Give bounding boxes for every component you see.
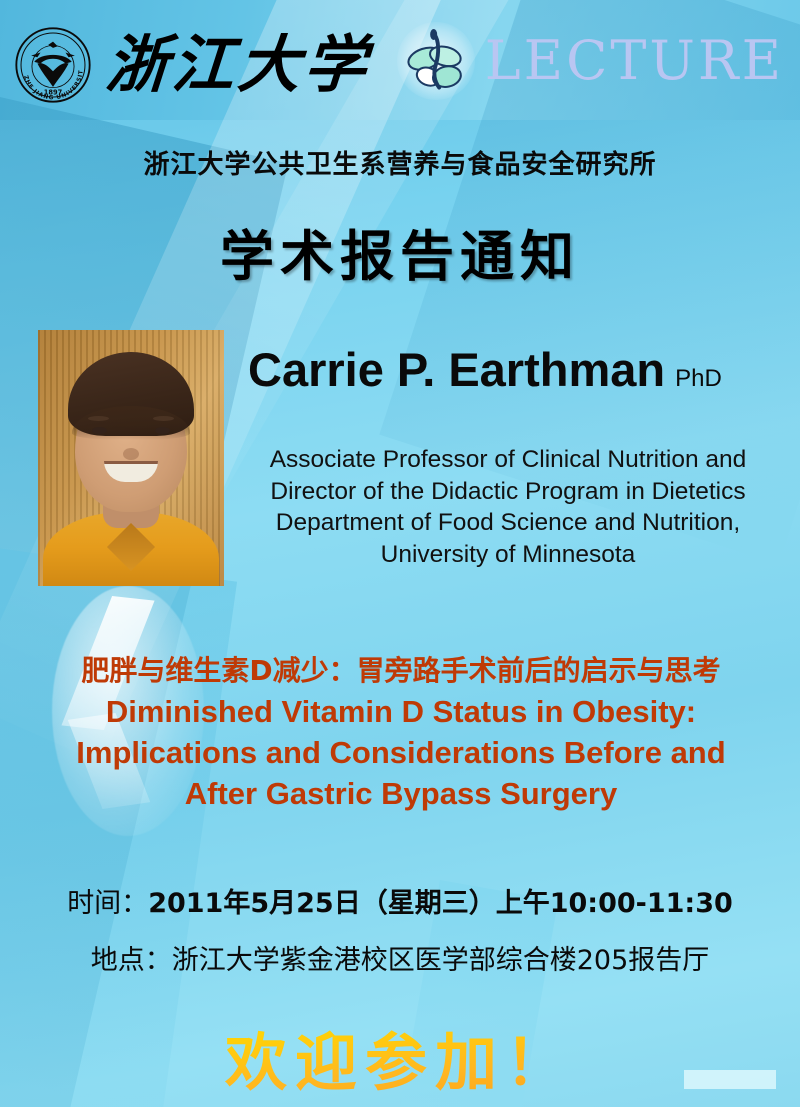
welcome-message: 欢迎参加！ <box>0 1012 800 1102</box>
lecture-title: 肥胖与维生素D减少：胃旁路手术前后的启示与思考 Diminished Vitam… <box>18 652 784 815</box>
poster-headline: 学术报告通知 <box>0 212 800 291</box>
lecture-poster: 1897 ZHE JIANG UNIVERSITY 浙江大学 LECTURE <box>0 0 800 1107</box>
zju-seal-icon: 1897 ZHE JIANG UNIVERSITY <box>14 26 92 104</box>
institute-name: 浙江大学公共卫生系营养与食品安全研究所 <box>0 144 800 181</box>
lecture-butterfly-icon <box>397 22 475 100</box>
speaker-degree: PhD <box>675 365 722 392</box>
lecture-title-english-line: Implications and Considerations Before a… <box>18 733 784 774</box>
subject-brow-left <box>88 416 109 421</box>
subject-brow-right <box>153 416 174 421</box>
event-details: 时间：2011年5月25日（星期三）上午10:00-11:30 地点：浙江大学紫… <box>0 876 800 989</box>
lecture-branding: LECTURE <box>397 22 784 100</box>
affiliation-line: Department of Food Science and Nutrition… <box>228 507 788 539</box>
event-place-value: 浙江大学紫金港校区医学部综合楼205报告厅 <box>172 945 710 976</box>
zju-logo: 1897 ZHE JIANG UNIVERSITY 浙江大学 <box>14 26 370 104</box>
subject-eye-left <box>92 427 107 434</box>
lecture-label: LECTURE <box>485 34 784 88</box>
speaker-name-text: Carrie P. Earthman <box>248 343 665 396</box>
lecture-title-english-line: Diminished Vitamin D Status in Obesity: <box>18 692 784 733</box>
bottom-right-artifact <box>684 1070 776 1089</box>
speaker-affiliation: Associate Professor of Clinical Nutritio… <box>228 444 788 570</box>
university-wordmark: 浙江大学 <box>104 34 372 96</box>
subject-nose <box>123 448 139 460</box>
event-time-label: 时间： <box>67 888 148 919</box>
event-time-line: 时间：2011年5月25日（星期三）上午10:00-11:30 <box>0 876 800 933</box>
lecture-title-chinese: 肥胖与维生素D减少：胃旁路手术前后的启示与思考 <box>18 652 784 690</box>
affiliation-line: Director of the Didactic Program in Diet… <box>228 476 788 508</box>
event-place-label: 地点： <box>91 945 172 976</box>
speaker-name: Carrie P. EarthmanPhD <box>248 342 788 397</box>
affiliation-line: University of Minnesota <box>228 539 788 571</box>
lecture-title-english-line: After Gastric Bypass Surgery <box>18 774 784 815</box>
lecture-title-english: Diminished Vitamin D Status in Obesity: … <box>18 692 784 815</box>
event-time-value: 2011年5月25日（星期三）上午10:00-11:30 <box>148 888 733 919</box>
affiliation-line: Associate Professor of Clinical Nutritio… <box>228 444 788 476</box>
speaker-photo <box>38 330 224 586</box>
event-place-line: 地点：浙江大学紫金港校区医学部综合楼205报告厅 <box>0 933 800 990</box>
subject-eye-right <box>155 427 170 434</box>
